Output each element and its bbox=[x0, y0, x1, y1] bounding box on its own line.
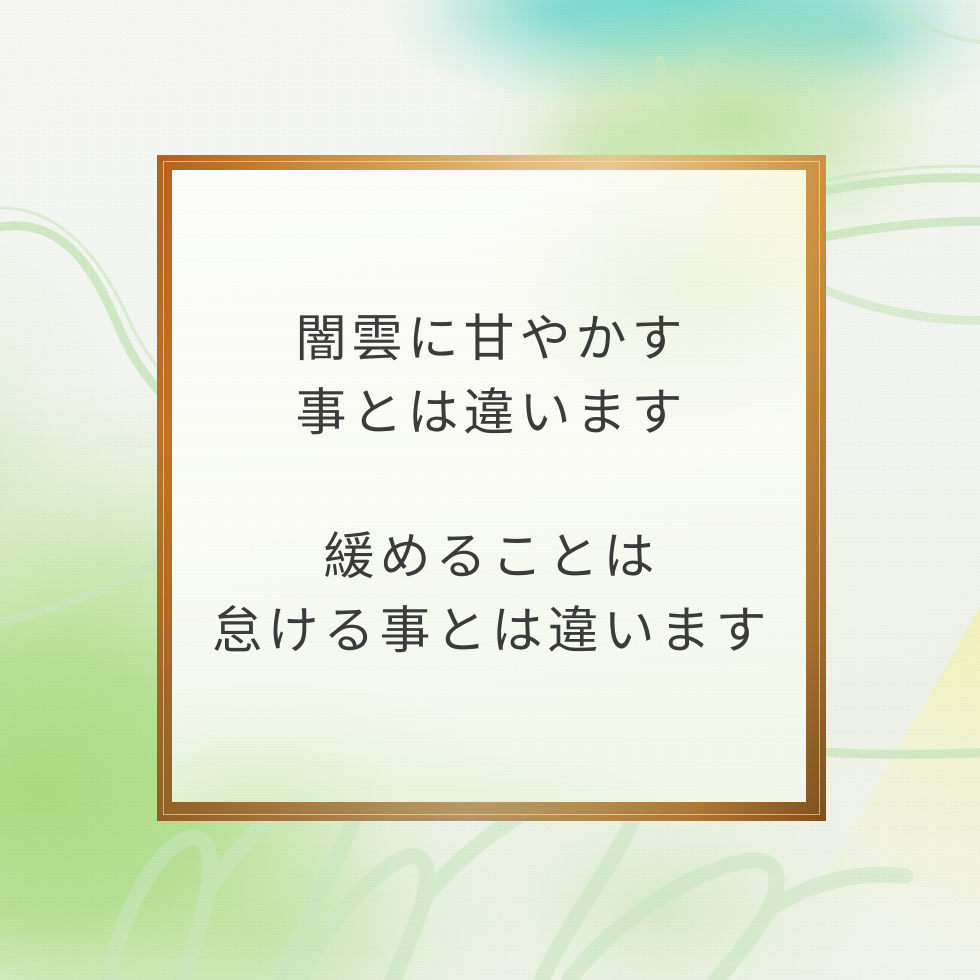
quote-stanza-2: 緩めることは 怠ける事とは違います bbox=[206, 521, 771, 669]
quote-stanza-1: 闇雲に甘やかす 事とは違います bbox=[290, 303, 687, 451]
quote-poster: 闇雲に甘やかす 事とは違います 緩めることは 怠ける事とは違います bbox=[0, 0, 980, 980]
quote-line-1: 闇雲に甘やかす bbox=[290, 303, 687, 377]
quote-line-2: 事とは違います bbox=[290, 377, 687, 451]
quote-line-4: 怠ける事とは違います bbox=[206, 595, 771, 669]
quote-text-block: 闇雲に甘やかす 事とは違います 緩めることは 怠ける事とは違います bbox=[172, 170, 806, 802]
quote-line-3: 緩めることは bbox=[318, 521, 659, 595]
